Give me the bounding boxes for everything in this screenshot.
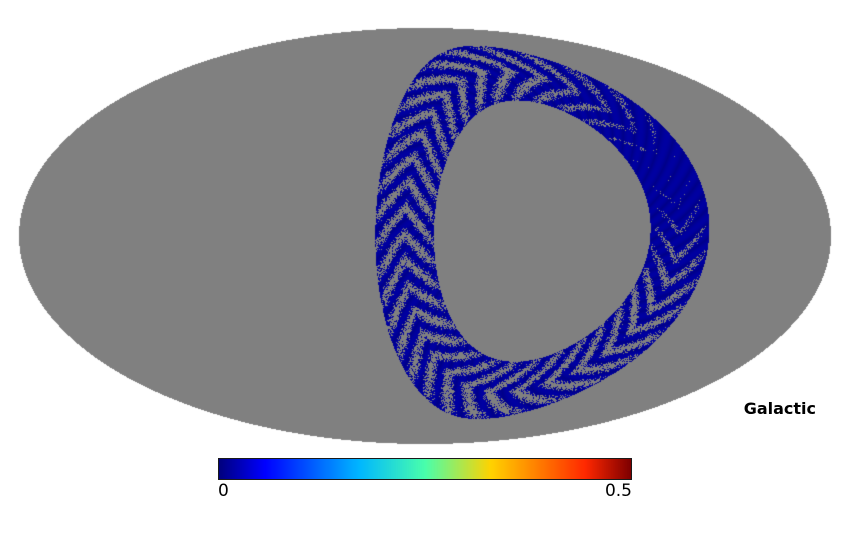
colorbar-max-label: 0.5 [560,481,632,501]
colorbar-gradient[interactable] [218,458,632,480]
colorbar[interactable] [218,458,632,482]
coordinate-system-label: Galactic [744,399,816,418]
mollweide-sky-map [0,0,850,460]
sky-map-figure: I Stokes Galactic 0 0.5 [0,0,850,540]
colorbar-min-label: 0 [218,481,229,501]
